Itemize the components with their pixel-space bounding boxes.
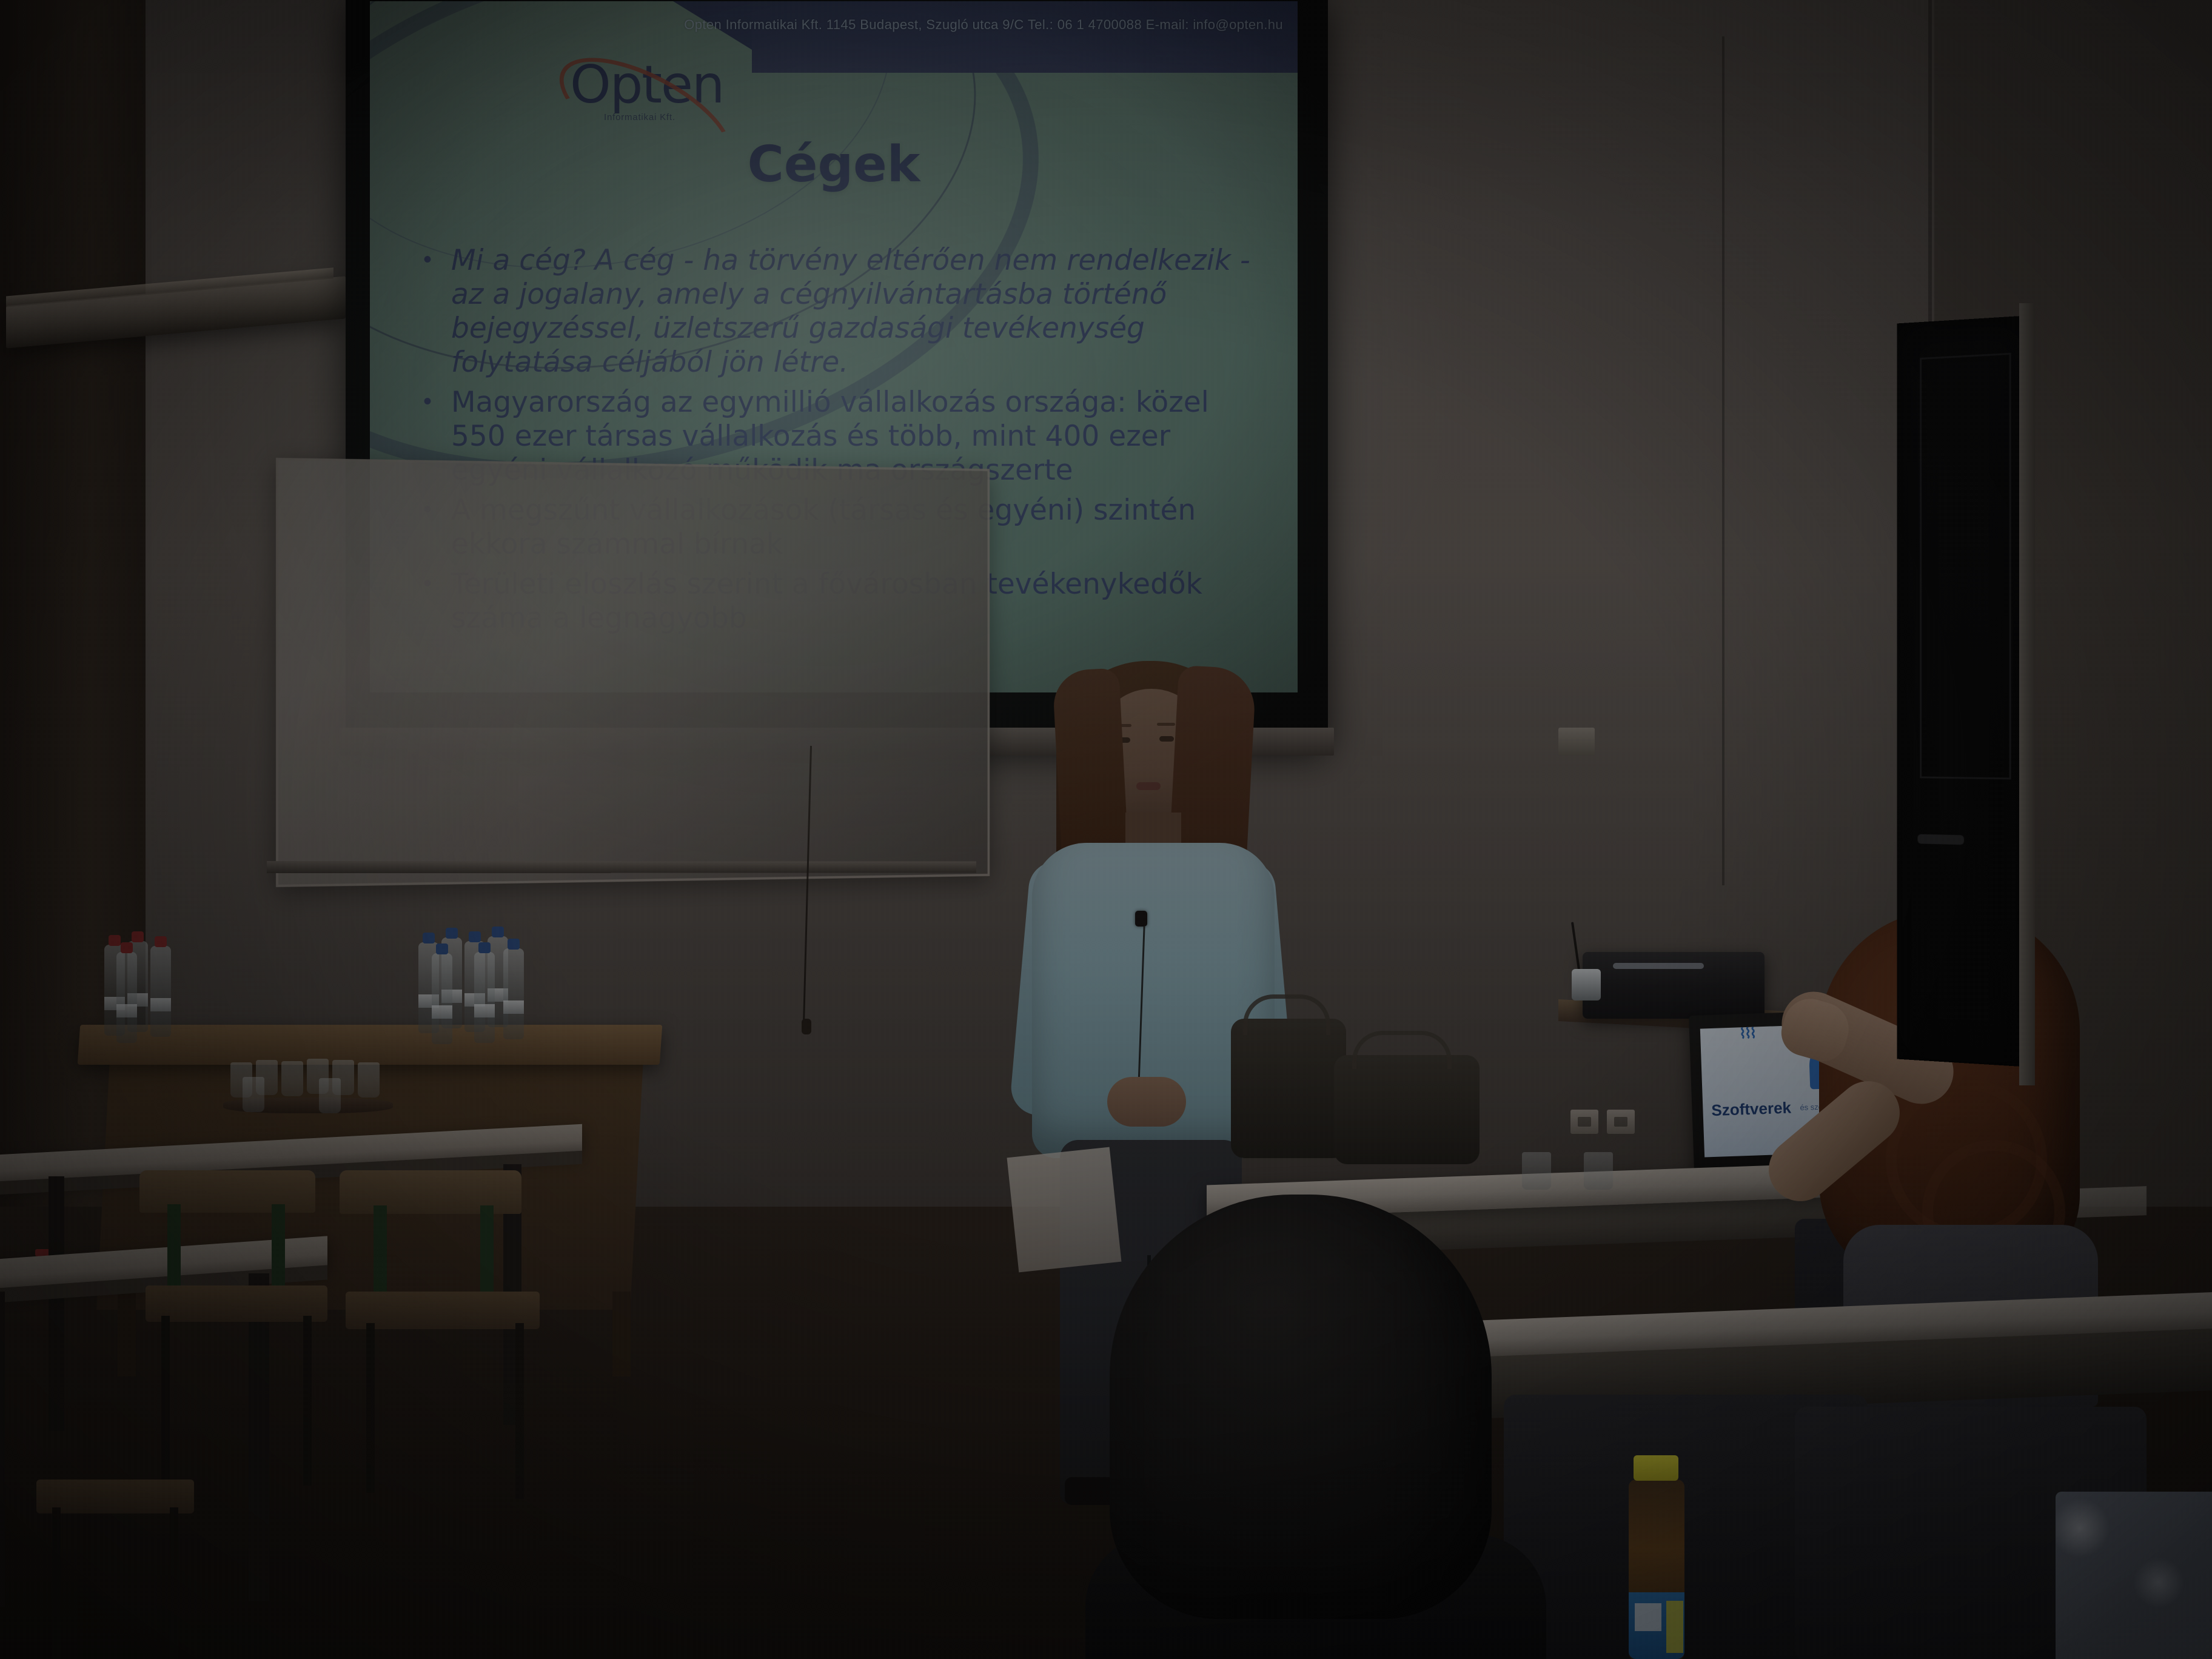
chair-seat [346, 1292, 540, 1329]
water-bottle [116, 952, 137, 1043]
power-outlet[interactable] [1607, 1110, 1635, 1134]
bottle-label-panel [1635, 1603, 1661, 1631]
chair-post [167, 1204, 181, 1289]
screen-pull-cord-handle[interactable] [802, 1019, 811, 1034]
water-bottle [474, 952, 495, 1043]
chair-backrest [139, 1170, 315, 1213]
chair-leg [515, 1323, 524, 1499]
foreground-attendee-hair [1110, 1195, 1492, 1619]
drinking-glass [319, 1078, 341, 1113]
presenter-mouth [1136, 782, 1161, 790]
bullet-marker-icon: • [417, 244, 451, 380]
wall-plate [1558, 728, 1595, 756]
backpack-strap [1243, 994, 1330, 1035]
desk-leg [249, 1273, 269, 1601]
foreground-fabric [2056, 1492, 2212, 1659]
opten-logo: Opten Informatikai Kft. [570, 59, 723, 122]
projector-highlight [1613, 963, 1704, 969]
chair-seat [146, 1285, 327, 1322]
presenter-eyebrow [1157, 723, 1175, 726]
chair-leg [52, 1507, 61, 1659]
whiteboard [276, 458, 990, 887]
desk-leg [0, 1292, 5, 1607]
projector-lens-icon [1572, 969, 1601, 1000]
chair-leg [366, 1323, 375, 1493]
slide-bullet-text: Mi a cég? A cég - ha törvény eltérően ne… [451, 244, 1261, 380]
lapel-microphone-icon [1135, 911, 1147, 927]
wave-decoration-icon: ⌇⌇⌇ [1739, 1025, 1755, 1043]
iced-tea-bottle [1620, 1455, 1693, 1659]
drinking-glass [358, 1062, 380, 1098]
backpack [1231, 1019, 1346, 1158]
whiteboard-marker-tray [267, 861, 976, 873]
chair-leg [161, 1316, 170, 1480]
wall-seam [1722, 36, 1724, 885]
chair-leg [303, 1316, 312, 1486]
water-bottle [503, 948, 524, 1039]
power-outlet[interactable] [1570, 1110, 1598, 1134]
water-bottle [432, 953, 452, 1044]
presenter-hands [1107, 1077, 1186, 1127]
drinking-glass [243, 1077, 264, 1112]
drinking-glass [281, 1061, 303, 1096]
chair-backrest [340, 1170, 521, 1214]
slide-header-band [752, 1, 1298, 73]
classroom-photo: Opten Informatikai Kft. 1145 Budapest, S… [0, 0, 2212, 1659]
shoulder-bag [1334, 1055, 1480, 1164]
chair-leg [170, 1507, 178, 1659]
doorway[interactable] [1897, 315, 2031, 1067]
chair-post [480, 1205, 494, 1302]
laptop-screen-title: Szoftverek [1711, 1099, 1792, 1121]
logo-tagline: Informatikai Kft. [604, 112, 723, 122]
drinking-glass [1522, 1152, 1551, 1190]
slide-header-text: Opten Informatikai Kft. 1145 Budapest, S… [684, 17, 1283, 33]
drinking-glass [1584, 1152, 1613, 1190]
door-frame [2019, 303, 2035, 1085]
chair-post [272, 1204, 285, 1295]
projector [1583, 952, 1765, 1019]
bottle-label-stripe [1666, 1601, 1683, 1653]
whiteboard-shading [278, 460, 988, 885]
foreground-attendee [1085, 1195, 1522, 1659]
table-leg [118, 1292, 136, 1376]
water-bottle [150, 946, 171, 1037]
table-leg [612, 1292, 631, 1376]
desk-leg [49, 1176, 64, 1431]
presenter-eye [1159, 736, 1174, 742]
slide-title: Cégek [370, 136, 1298, 193]
slide-bullet: • Mi a cég? A cég - ha törvény eltérően … [417, 244, 1261, 380]
chair-post [374, 1205, 387, 1296]
shoulder-bag-strap [1352, 1031, 1452, 1069]
door-handle[interactable] [1917, 834, 1963, 845]
door-panel [1920, 353, 2011, 780]
bottle-cap [1634, 1455, 1678, 1481]
